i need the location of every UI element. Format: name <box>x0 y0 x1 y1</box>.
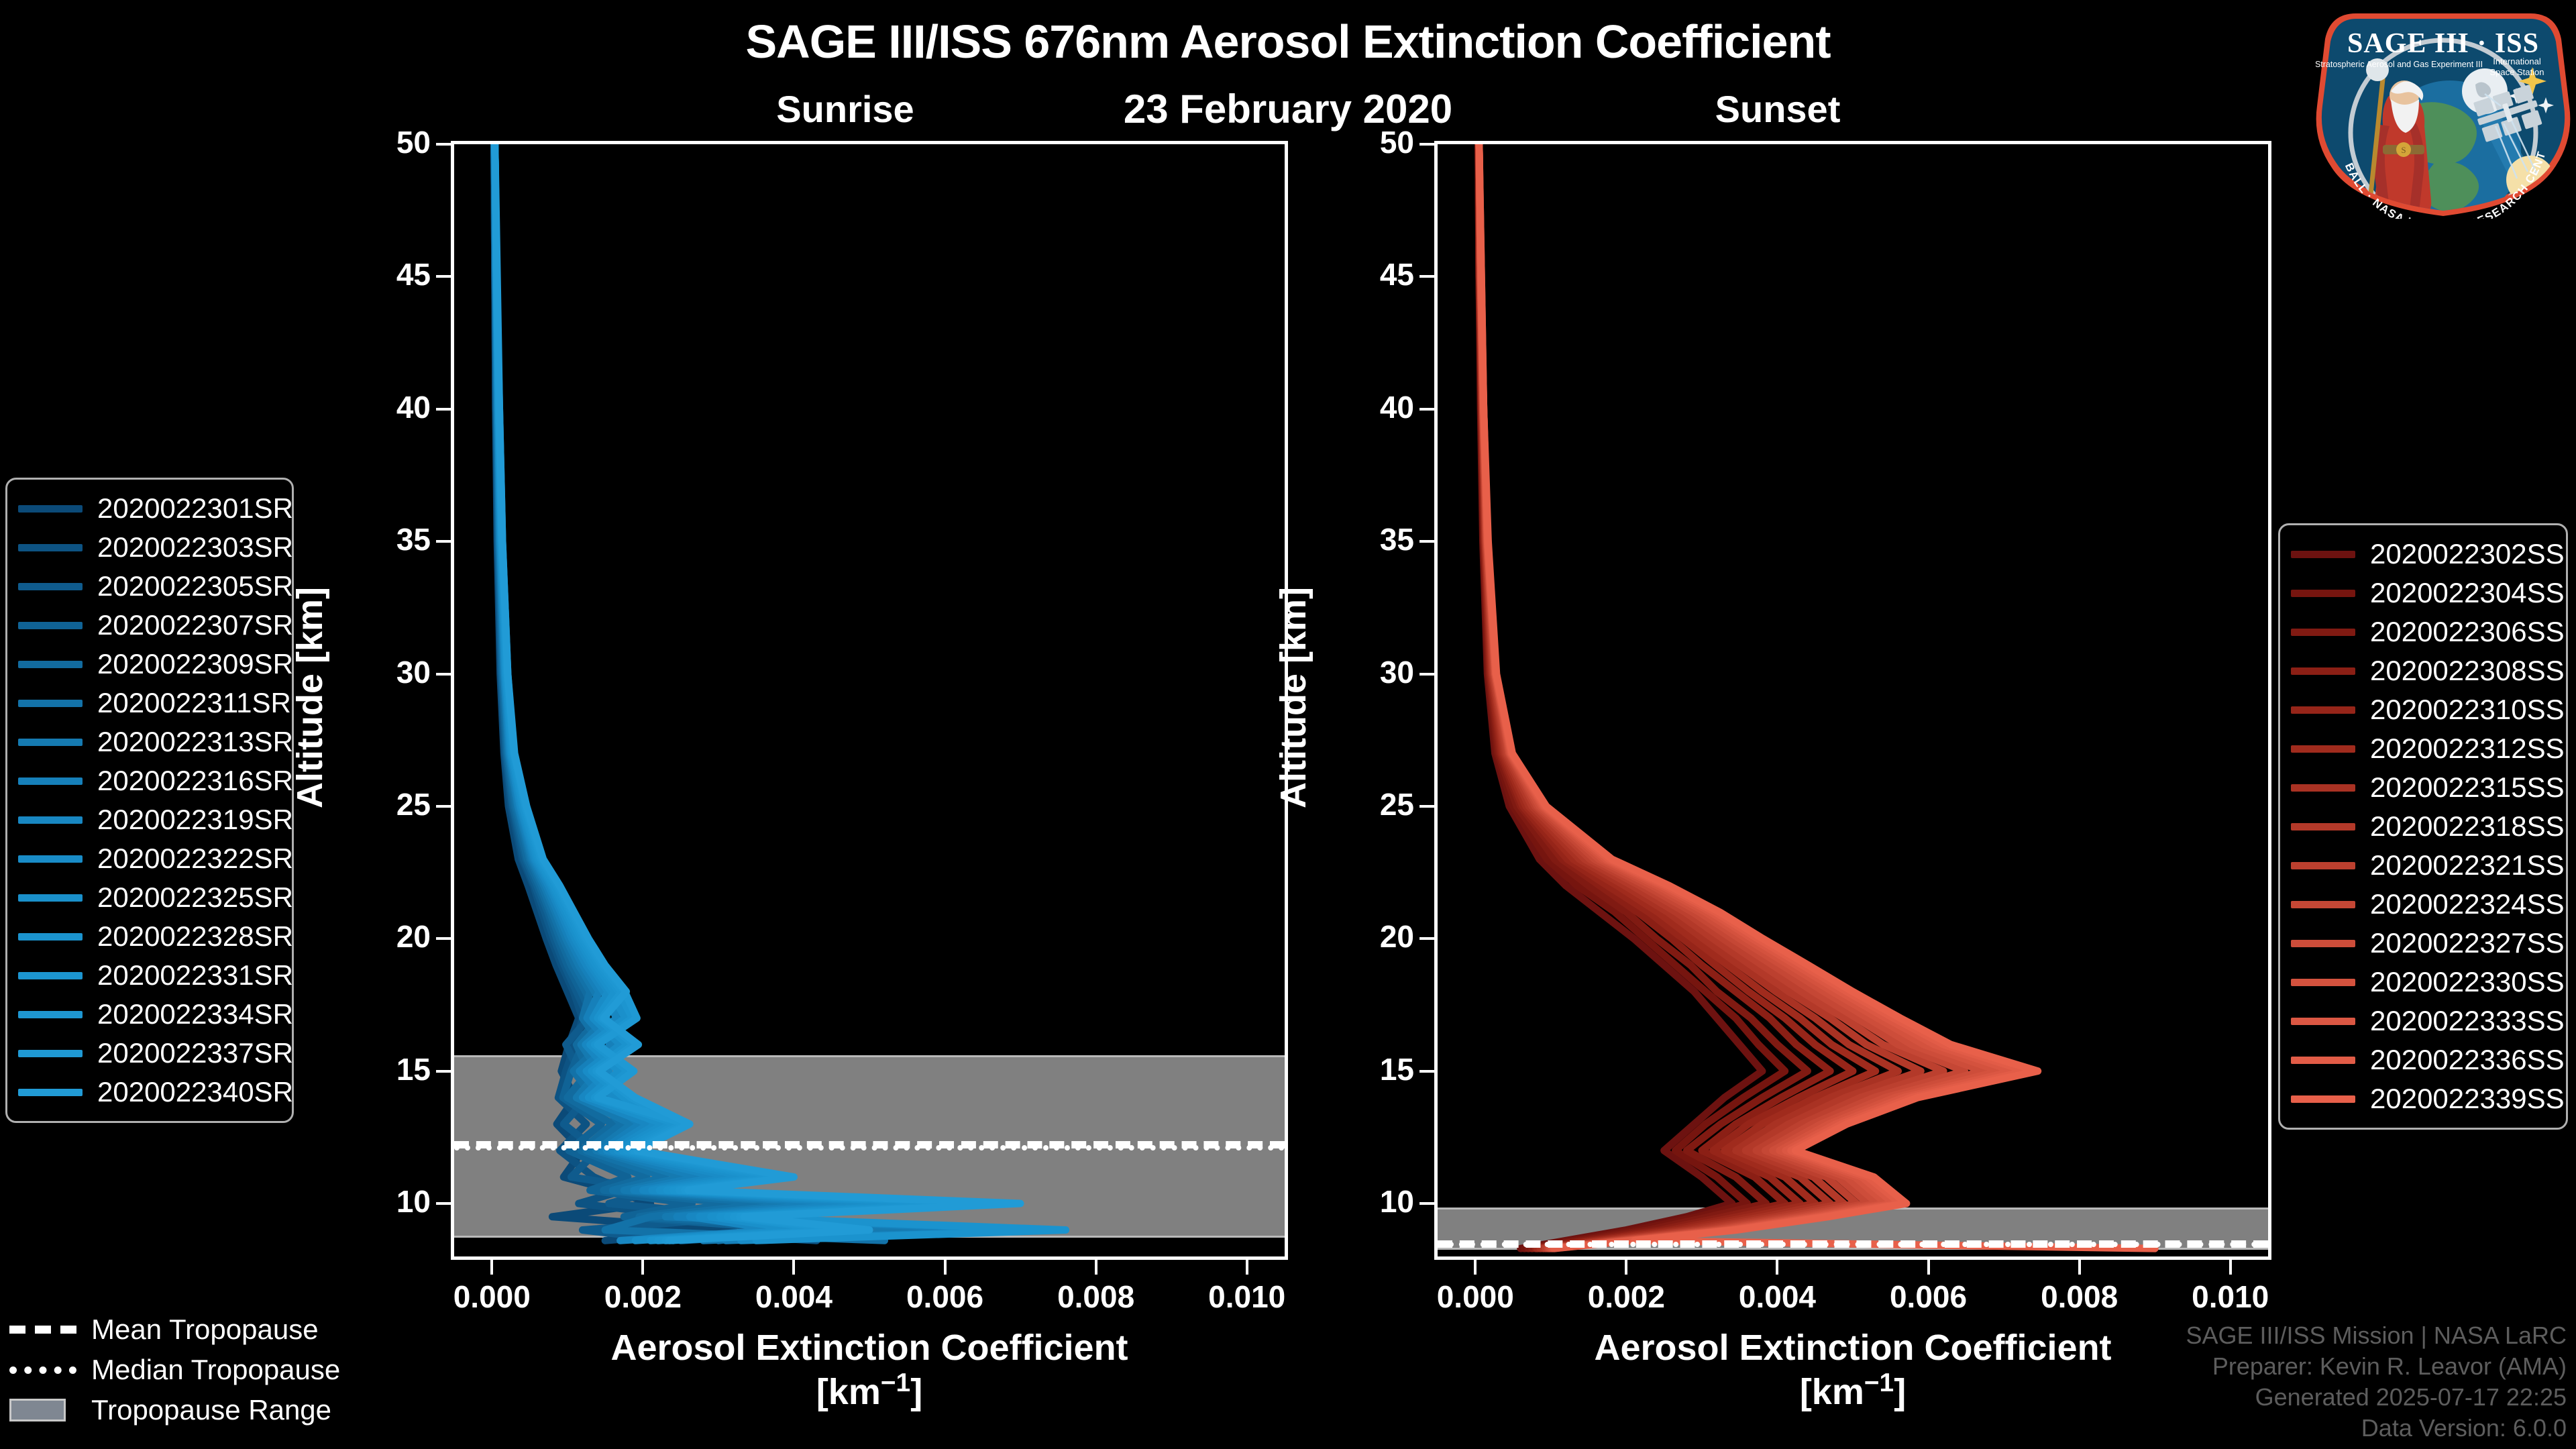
credits-line-generated: Generated 2025-07-17 22:25 <box>2186 1382 2567 1413</box>
svg-text:SAGE III · ISS: SAGE III · ISS <box>2347 28 2539 59</box>
sunrise-x-axis-title: Aerosol Extinction Coefficient [km−1] <box>433 1327 1305 1413</box>
legend-color-swatch <box>2291 1018 2355 1025</box>
legend-color-swatch <box>2291 590 2355 597</box>
legend-label: 2020022309SR <box>97 648 293 680</box>
y-tick-label: 20 <box>317 918 431 955</box>
legend-item[interactable]: 2020022325SR <box>18 878 278 917</box>
data-trace <box>1479 144 1762 1248</box>
x-tick-mark <box>944 1260 947 1275</box>
data-trace <box>1479 144 1830 1248</box>
y-tick-label: 15 <box>1300 1051 1414 1087</box>
legend-label: 2020022330SS <box>2370 966 2565 998</box>
legend-color-swatch <box>2291 551 2355 558</box>
page-title: SAGE III/ISS 676nm Aerosol Extinction Co… <box>0 15 2576 68</box>
key-label-median: Median Tropopause <box>91 1354 340 1386</box>
x-tick-label: 0.004 <box>720 1279 867 1315</box>
data-trace <box>1479 144 2155 1248</box>
legend-item[interactable]: 2020022310SS <box>2291 690 2553 729</box>
legend-label: 2020022333SS <box>2370 1005 2565 1037</box>
sunrise-plot-inner <box>454 144 1285 1256</box>
y-tick-label: 10 <box>1300 1183 1414 1220</box>
x-tick-label: 0.000 <box>1401 1279 1549 1315</box>
legend-label: 2020022307SR <box>97 609 293 641</box>
legend-item[interactable]: 2020022308SS <box>2291 651 2553 690</box>
legend-label: 2020022318SS <box>2370 810 2565 843</box>
median-tropopause-line <box>454 1145 1285 1150</box>
legend-color-swatch <box>18 622 83 629</box>
legend-item[interactable]: 2020022324SS <box>2291 885 2553 924</box>
legend-color-swatch <box>18 1050 83 1057</box>
sunset-panel-label: Sunset <box>1576 87 1979 131</box>
y-tick-mark <box>1419 143 1434 146</box>
legend-color-swatch <box>2291 745 2355 753</box>
y-tick-mark <box>1419 540 1434 543</box>
median-tropopause-line <box>1438 1242 2268 1247</box>
legend-color-swatch <box>18 1011 83 1018</box>
data-trace <box>1479 144 1853 1248</box>
key-row-tropopause-range: Tropopause Range <box>9 1390 385 1430</box>
x-axis-title-text: Aerosol Extinction Coefficient <box>433 1327 1305 1368</box>
legend-item[interactable]: 2020022337SR <box>18 1034 278 1073</box>
x-tick-mark <box>490 1260 493 1275</box>
legend-color-swatch <box>18 933 83 941</box>
legend-color-swatch <box>2291 1095 2355 1103</box>
legend-item[interactable]: 2020022318SS <box>2291 807 2553 846</box>
y-tick-mark <box>436 805 451 808</box>
legend-color-swatch <box>18 972 83 979</box>
legend-color-swatch <box>2291 667 2355 675</box>
x-tick-mark <box>1095 1260 1097 1275</box>
y-tick-mark <box>436 275 451 278</box>
dotted-line-icon <box>9 1366 76 1374</box>
legend-item[interactable]: 2020022333SS <box>2291 1002 2553 1040</box>
x-tick-mark <box>1776 1260 1778 1275</box>
legend-color-swatch <box>18 816 83 824</box>
legend-label: 2020022313SR <box>97 726 293 758</box>
legend-label: 2020022339SS <box>2370 1083 2565 1115</box>
legend-color-swatch <box>18 777 83 785</box>
x-tick-mark <box>1625 1260 1627 1275</box>
x-axis-units: [km−1] <box>433 1368 1305 1413</box>
key-label-mean: Mean Tropopause <box>91 1313 319 1346</box>
data-trace <box>494 144 855 1240</box>
legend-label: 2020022302SS <box>2370 538 2565 570</box>
legend-color-swatch <box>2291 1057 2355 1064</box>
legend-label: 2020022324SS <box>2370 888 2565 920</box>
y-tick-label: 35 <box>1300 521 1414 557</box>
x-tick-mark <box>2229 1260 2232 1275</box>
x-axis-units: [km−1] <box>1417 1368 2289 1413</box>
sunset-plot-inner <box>1438 144 2268 1256</box>
legend-item[interactable]: 2020022306SS <box>2291 612 2553 651</box>
legend-label: 2020022316SR <box>97 765 293 797</box>
x-tick-mark <box>641 1260 644 1275</box>
legend-color-swatch <box>2291 823 2355 830</box>
x-tick-label: 0.004 <box>1703 1279 1851 1315</box>
credits-block: SAGE III/ISS Mission | NASA LaRC Prepare… <box>2186 1320 2567 1444</box>
credits-line-mission: SAGE III/ISS Mission | NASA LaRC <box>2186 1320 2567 1351</box>
x-tick-mark <box>2078 1260 2081 1275</box>
legend-color-swatch <box>2291 862 2355 869</box>
sunset-legend[interactable]: 2020022302SS2020022304SS2020022306SS2020… <box>2278 523 2568 1130</box>
y-tick-mark <box>1419 673 1434 676</box>
legend-color-swatch <box>2291 979 2355 986</box>
legend-color-swatch <box>18 661 83 668</box>
legend-item[interactable]: 2020022328SR <box>18 917 278 956</box>
legend-color-swatch <box>18 855 83 863</box>
legend-color-swatch <box>18 894 83 902</box>
sunrise-y-axis-title: Altitude [km] <box>289 557 331 839</box>
y-tick-mark <box>436 1202 451 1205</box>
key-row-median-tropopause: Median Tropopause <box>9 1350 385 1390</box>
x-tick-label: 0.010 <box>2157 1279 2304 1315</box>
sunrise-plot-area <box>451 141 1288 1260</box>
legend-label: 2020022303SR <box>97 531 293 563</box>
sunset-plot-area <box>1434 141 2271 1260</box>
x-tick-mark <box>1927 1260 1930 1275</box>
legend-item[interactable]: 2020022319SR <box>18 800 278 839</box>
legend-color-swatch <box>2291 901 2355 908</box>
data-trace <box>494 144 885 1240</box>
legend-item[interactable]: 2020022330SS <box>2291 963 2553 1002</box>
tropopause-key: Mean Tropopause Median Tropopause Tropop… <box>9 1309 385 1430</box>
legend-label: 2020022337SR <box>97 1037 293 1069</box>
svg-text:Space Station: Space Station <box>2490 67 2544 77</box>
sage-iii-iss-logo: S SAGE III · ISS Stratospheric Aerosol a… <box>2316 5 2571 219</box>
legend-color-swatch <box>18 739 83 746</box>
legend-label: 2020022311SR <box>97 687 291 719</box>
dashed-line-icon <box>9 1326 76 1334</box>
legend-item[interactable]: 2020022315SS <box>2291 768 2553 807</box>
legend-item[interactable]: 2020022309SR <box>18 645 278 684</box>
y-tick-label: 10 <box>317 1183 431 1220</box>
y-tick-mark <box>1419 805 1434 808</box>
legend-item[interactable]: 2020022327SS <box>2291 924 2553 963</box>
legend-item[interactable]: 2020022334SR <box>18 995 278 1034</box>
y-tick-label: 50 <box>1300 124 1414 160</box>
data-trace <box>494 144 817 1240</box>
legend-item[interactable]: 2020022301SR <box>18 489 278 528</box>
legend-label: 2020022312SS <box>2370 733 2565 765</box>
figure-root: SAGE III/ISS 676nm Aerosol Extinction Co… <box>0 0 2576 1449</box>
x-tick-mark <box>1474 1260 1477 1275</box>
legend-color-swatch <box>18 505 83 513</box>
filled-box-icon <box>9 1399 76 1421</box>
legend-label: 2020022328SR <box>97 920 293 953</box>
y-tick-mark <box>1419 937 1434 940</box>
y-tick-label: 20 <box>1300 918 1414 955</box>
x-tick-label: 0.002 <box>1552 1279 1700 1315</box>
y-tick-mark <box>436 408 451 411</box>
y-tick-label: 25 <box>317 786 431 822</box>
legend-item[interactable]: 2020022312SS <box>2291 729 2553 768</box>
data-trace <box>1479 144 1808 1248</box>
sunset-y-axis-title: Altitude [km] <box>1273 557 1314 839</box>
legend-label: 2020022305SR <box>97 570 293 602</box>
svg-text:International: International <box>2493 56 2541 66</box>
y-tick-label: 40 <box>1300 389 1414 425</box>
legend-label: 2020022322SR <box>97 843 293 875</box>
legend-label: 2020022306SS <box>2370 616 2565 648</box>
legend-color-swatch <box>18 544 83 551</box>
y-tick-mark <box>436 1070 451 1073</box>
legend-item[interactable]: 2020022339SS <box>2291 1079 2553 1118</box>
sunset-traces <box>1438 144 2268 1256</box>
data-trace <box>1479 144 1785 1248</box>
legend-item[interactable]: 2020022313SR <box>18 722 278 761</box>
data-trace <box>494 144 802 1240</box>
data-trace <box>495 144 869 1240</box>
y-tick-label: 30 <box>317 654 431 690</box>
legend-item[interactable]: 2020022305SR <box>18 567 278 606</box>
y-tick-mark <box>1419 1202 1434 1205</box>
y-tick-mark <box>436 673 451 676</box>
x-tick-label: 0.008 <box>2006 1279 2153 1315</box>
y-tick-mark <box>436 143 451 146</box>
legend-label: 2020022308SS <box>2370 655 2565 687</box>
legend-item[interactable]: 2020022307SR <box>18 606 278 645</box>
legend-color-swatch <box>2291 629 2355 636</box>
legend-color-swatch <box>18 583 83 590</box>
legend-label: 2020022310SS <box>2370 694 2565 726</box>
legend-item[interactable]: 2020022336SS <box>2291 1040 2553 1079</box>
key-label-range: Tropopause Range <box>91 1394 331 1426</box>
x-tick-mark <box>792 1260 795 1275</box>
legend-color-swatch <box>18 1089 83 1096</box>
y-tick-mark <box>1419 275 1434 278</box>
y-tick-label: 35 <box>317 521 431 557</box>
key-row-mean-tropopause: Mean Tropopause <box>9 1309 385 1350</box>
legend-label: 2020022301SR <box>97 492 293 525</box>
legend-item[interactable]: 2020022303SR <box>18 528 278 567</box>
credits-line-preparer: Preparer: Kevin R. Leavor (AMA) <box>2186 1351 2567 1382</box>
x-tick-label: 0.008 <box>1022 1279 1170 1315</box>
x-axis-title-text: Aerosol Extinction Coefficient <box>1417 1327 2289 1368</box>
y-tick-label: 50 <box>317 124 431 160</box>
legend-label: 2020022327SS <box>2370 927 2565 959</box>
legend-item[interactable]: 2020022316SR <box>18 761 278 800</box>
y-tick-mark <box>436 937 451 940</box>
svg-text:Stratospheric Aerosol and Gas: Stratospheric Aerosol and Gas Experiment… <box>2316 60 2483 69</box>
legend-label: 2020022325SR <box>97 881 293 914</box>
y-tick-label: 45 <box>1300 256 1414 292</box>
legend-item[interactable]: 2020022322SR <box>18 839 278 878</box>
x-tick-label: 0.002 <box>569 1279 716 1315</box>
x-tick-label: 0.006 <box>871 1279 1019 1315</box>
legend-color-swatch <box>2291 706 2355 714</box>
legend-item[interactable]: 2020022302SS <box>2291 535 2553 574</box>
y-tick-label: 45 <box>317 256 431 292</box>
credits-line-dataversion: Data Version: 6.0.0 <box>2186 1413 2567 1444</box>
y-tick-label: 25 <box>1300 786 1414 822</box>
svg-text:S: S <box>2401 145 2406 155</box>
sunrise-panel-label: Sunrise <box>644 87 1046 131</box>
y-tick-mark <box>1419 1070 1434 1073</box>
sunrise-traces <box>454 144 1285 1256</box>
legend-label: 2020022315SS <box>2370 771 2565 804</box>
legend-label: 2020022334SR <box>97 998 293 1030</box>
legend-item[interactable]: 2020022304SS <box>2291 574 2553 612</box>
legend-color-swatch <box>18 700 83 707</box>
legend-item[interactable]: 2020022340SR <box>18 1073 278 1112</box>
legend-label: 2020022319SR <box>97 804 293 836</box>
legend-label: 2020022321SS <box>2370 849 2565 881</box>
legend-label: 2020022340SR <box>97 1076 293 1108</box>
sunset-x-axis-title: Aerosol Extinction Coefficient [km−1] <box>1417 1327 2289 1413</box>
x-tick-label: 0.010 <box>1173 1279 1321 1315</box>
y-tick-mark <box>1419 408 1434 411</box>
legend-color-swatch <box>2291 940 2355 947</box>
legend-item[interactable]: 2020022321SS <box>2291 846 2553 885</box>
legend-label: 2020022336SS <box>2370 1044 2565 1076</box>
legend-label: 2020022304SS <box>2370 577 2565 609</box>
y-tick-label: 15 <box>317 1051 431 1087</box>
y-tick-label: 40 <box>317 389 431 425</box>
y-tick-label: 30 <box>1300 654 1414 690</box>
legend-label: 2020022331SR <box>97 959 293 991</box>
y-tick-mark <box>436 540 451 543</box>
legend-item[interactable]: 2020022331SR <box>18 956 278 995</box>
x-tick-label: 0.006 <box>1855 1279 2002 1315</box>
sunrise-legend[interactable]: 2020022301SR2020022303SR2020022305SR2020… <box>5 478 294 1123</box>
legend-color-swatch <box>2291 784 2355 792</box>
x-tick-mark <box>1246 1260 1248 1275</box>
x-tick-label: 0.000 <box>418 1279 566 1315</box>
legend-item[interactable]: 2020022311SR <box>18 684 278 722</box>
